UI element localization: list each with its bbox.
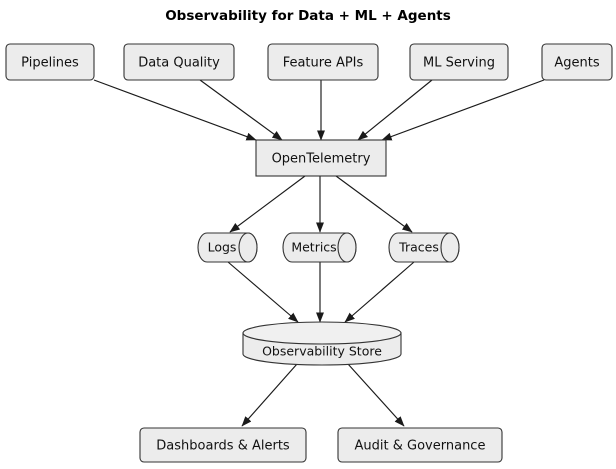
node-pipelines-label: Pipelines — [21, 56, 79, 71]
edge-opentelemetry-to-traces — [336, 176, 412, 232]
node-logs-label: Logs — [208, 240, 237, 255]
node-metrics[interactable]: Metrics — [283, 233, 356, 262]
node-opentelemetry[interactable]: OpenTelemetry — [256, 140, 386, 176]
node-observability-store-label: Observability Store — [262, 344, 382, 359]
node-traces-label: Traces — [398, 240, 439, 255]
node-agents-label: Agents — [554, 56, 599, 71]
node-traces-cylinder-cap — [441, 233, 459, 262]
node-audit-governance[interactable]: Audit & Governance — [338, 428, 502, 462]
node-observability-store[interactable]: Observability Store — [243, 322, 401, 365]
node-opentelemetry-label: OpenTelemetry — [272, 152, 371, 167]
node-logs[interactable]: Logs — [198, 233, 257, 262]
edge-ml-serving-to-opentelemetry — [358, 80, 432, 140]
node-dashboards-alerts-label: Dashboards & Alerts — [156, 439, 290, 454]
diagram-canvas: Observability for Data + ML + Agents — [0, 0, 616, 469]
node-agents[interactable]: Agents — [542, 44, 612, 80]
edge-traces-to-observability-store — [345, 262, 414, 322]
node-ml-serving[interactable]: ML Serving — [410, 44, 508, 80]
edges-sources-to-collector — [94, 80, 544, 140]
node-metrics-label: Metrics — [291, 240, 336, 255]
edge-opentelemetry-to-logs — [230, 176, 305, 232]
flowchart-svg: Observability for Data + ML + Agents — [0, 0, 616, 469]
node-metrics-cylinder-cap — [338, 233, 356, 262]
edge-store-to-dashboards-alerts — [242, 364, 297, 426]
node-pipelines[interactable]: Pipelines — [6, 44, 94, 80]
node-feature-apis-label: Feature APIs — [283, 56, 364, 71]
diagram-title: Observability for Data + ML + Agents — [165, 8, 451, 24]
edges-signals-to-store — [228, 262, 414, 322]
edge-pipelines-to-opentelemetry — [94, 80, 256, 140]
node-traces[interactable]: Traces — [389, 233, 459, 262]
node-dashboards-alerts[interactable]: Dashboards & Alerts — [140, 428, 306, 462]
edges-collector-to-signals — [230, 176, 412, 232]
node-audit-governance-label: Audit & Governance — [355, 439, 486, 454]
edge-logs-to-observability-store — [228, 262, 298, 322]
node-logs-cylinder-cap — [239, 233, 257, 262]
node-ml-serving-label: ML Serving — [423, 56, 495, 71]
edge-store-to-audit-governance — [348, 364, 404, 426]
node-data-quality-label: Data Quality — [138, 56, 220, 71]
edge-agents-to-opentelemetry — [382, 80, 544, 140]
node-observability-store-top — [243, 322, 401, 344]
edge-data-quality-to-opentelemetry — [200, 80, 282, 140]
node-data-quality[interactable]: Data Quality — [124, 44, 234, 80]
edges-store-to-consumers — [242, 364, 404, 426]
node-feature-apis[interactable]: Feature APIs — [268, 44, 378, 80]
